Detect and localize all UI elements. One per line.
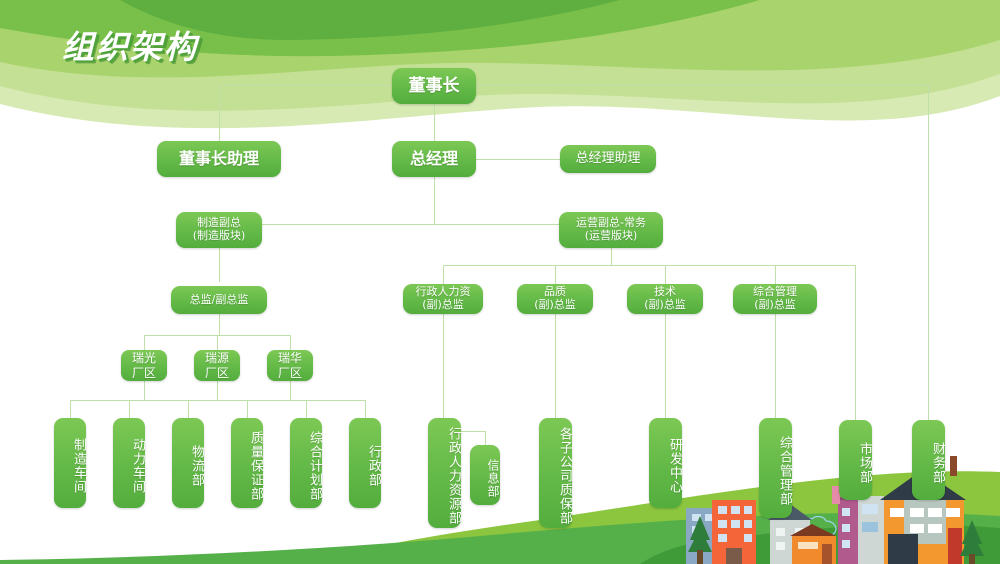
edge-hr-dept-drop <box>443 314 444 418</box>
node-dept-logistics[interactable]: 物流部 <box>172 418 204 508</box>
edge-gm-down <box>434 177 435 224</box>
edge-dept-qa-drop <box>247 400 248 418</box>
edge-ruiyuan-down <box>217 381 218 400</box>
node-dept-power-shop[interactable]: 动力车间 <box>113 418 145 508</box>
node-dept-rd-center[interactable]: 研发中心 <box>649 418 682 508</box>
node-vp-operations[interactable]: 运营副总-常务 (运营版块) <box>559 212 663 248</box>
edge-chairman-asst-drop <box>219 85 220 141</box>
node-dept-subsidiary-qa[interactable]: 各子公司质保部 <box>539 418 572 528</box>
edge-hr-it-v <box>485 431 486 445</box>
edge-gm-gmasst <box>476 159 560 160</box>
edge-ops-directors-bus <box>443 265 855 266</box>
node-dept-quality-assurance[interactable]: 质量保证部 <box>231 418 263 508</box>
node-plant-ruiguang[interactable]: 瑞光 厂区 <box>121 350 167 381</box>
edge-mfg-depts-bus <box>70 400 365 401</box>
node-chairman-assistant[interactable]: 董事长助理 <box>157 141 281 177</box>
edge-genmgmt-drop <box>775 314 776 418</box>
edge-ruiguang-down <box>144 381 145 400</box>
node-plant-ruihua[interactable]: 瑞华 厂区 <box>267 350 313 381</box>
node-dept-hr[interactable]: 行政人力资源部 <box>428 418 461 528</box>
chimney <box>950 456 957 476</box>
edge-plant-ruiyuan-drop <box>217 335 218 350</box>
node-dept-finance[interactable]: 财务部 <box>912 420 945 500</box>
edge-plant-ruiguang-drop <box>144 335 145 350</box>
node-director-general-management[interactable]: 综合管理 (副)总监 <box>733 284 817 314</box>
node-dept-manufacturing-shop[interactable]: 制造车间 <box>54 418 86 508</box>
page-title: 组织架构 <box>62 22 198 68</box>
edge-chairman-left-bus <box>219 85 392 86</box>
node-dept-it[interactable]: 信息部 <box>470 445 500 505</box>
edge-vpops-down <box>611 248 612 265</box>
org-chart-page: 组织架构 董事长 董事长助理 总经理 <box>0 0 1000 564</box>
edge-dept-logistics-drop <box>188 400 189 418</box>
edge-dir-general-drop <box>775 265 776 284</box>
edge-ruihua-down <box>290 381 291 400</box>
edge-dept-planning-drop <box>306 400 307 418</box>
edge-vpmfg-director <box>219 248 220 282</box>
node-dept-administration[interactable]: 行政部 <box>349 418 381 508</box>
edge-hr-it-h <box>461 431 485 432</box>
node-director-technology[interactable]: 技术 (副)总监 <box>627 284 703 314</box>
node-chairman[interactable]: 董事长 <box>392 68 476 104</box>
node-plant-ruiyuan[interactable]: 瑞源 厂区 <box>194 350 240 381</box>
edge-chairman-gm <box>434 104 435 141</box>
edge-rd-drop <box>665 314 666 418</box>
edge-dir-hr-drop <box>443 265 444 284</box>
node-vp-manufacturing[interactable]: 制造副总 (制造版块) <box>176 212 262 248</box>
edge-dir-tech-drop <box>665 265 666 284</box>
edge-finance-drop <box>928 85 929 420</box>
edge-plant-ruihua-drop <box>290 335 291 350</box>
edge-subqa-drop <box>555 314 556 418</box>
node-dept-marketing[interactable]: 市场部 <box>839 420 872 500</box>
edge-dept-mfgshop-drop <box>70 400 71 418</box>
node-director-manufacturing[interactable]: 总监/副总监 <box>171 286 267 314</box>
edge-chairman-right-bus <box>476 85 928 86</box>
node-director-quality[interactable]: 品质 (副)总监 <box>517 284 593 314</box>
edge-dir-quality-drop <box>555 265 556 284</box>
node-dept-general-management[interactable]: 综合管理部 <box>759 418 792 518</box>
edge-market-drop <box>855 265 856 420</box>
edge-vp-bus <box>219 224 611 225</box>
node-dept-planning[interactable]: 综合计划部 <box>290 418 322 508</box>
edge-director-down <box>219 314 220 335</box>
edge-dept-admin-drop <box>365 400 366 418</box>
node-director-hr[interactable]: 行政人力资 (副)总监 <box>403 284 483 314</box>
node-general-manager[interactable]: 总经理 <box>392 141 476 177</box>
node-gm-assistant[interactable]: 总经理助理 <box>560 145 656 173</box>
edge-dept-powershop-drop <box>129 400 130 418</box>
